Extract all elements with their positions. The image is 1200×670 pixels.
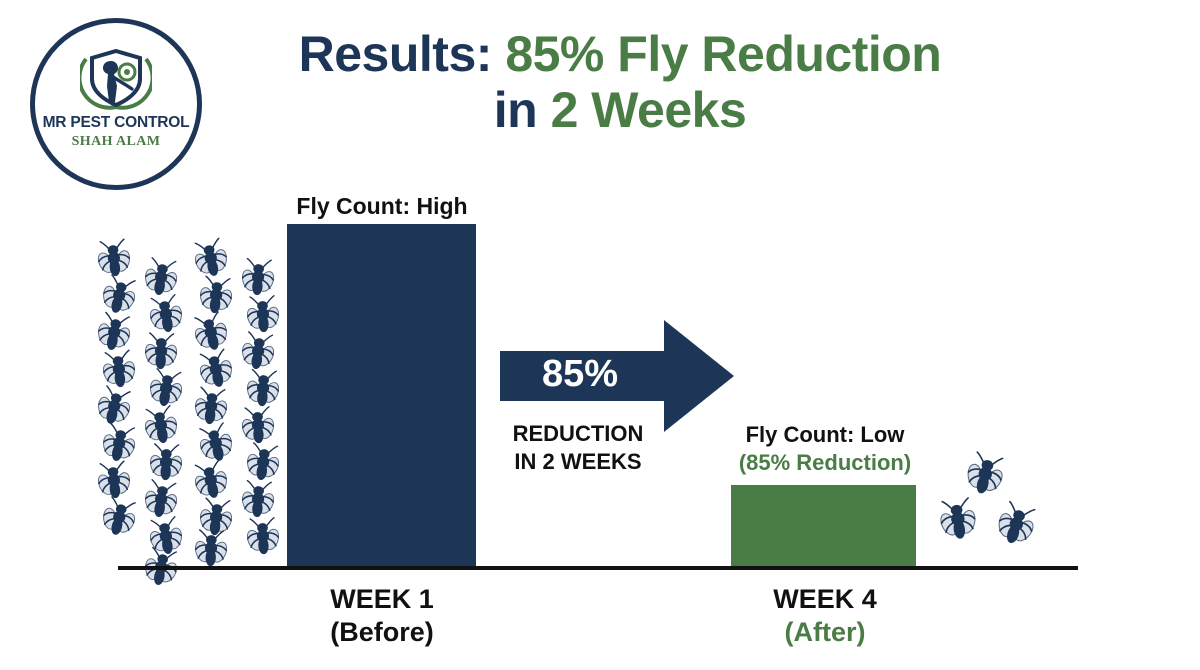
arrow-caption: REDUCTION IN 2 WEEKS (493, 420, 663, 475)
chart-baseline-axis (118, 566, 1078, 570)
arrow-caption-line2: IN 2 WEEKS (493, 448, 663, 476)
bar-label-before: Fly Count: High (262, 193, 502, 220)
infographic-canvas: MR PEST CONTROL SHAH ALAM Results: 85% F… (0, 0, 1200, 670)
bar-label-after: Fly Count: Low (85% Reduction) (705, 421, 945, 476)
fly-icon (935, 497, 981, 543)
arrow-caption-line1: REDUCTION (493, 420, 663, 448)
axis-label-week1-sub: (Before) (262, 616, 502, 649)
axis-label-week4-main: WEEK 4 (705, 583, 945, 616)
arrow-percent-text: 85% (500, 353, 660, 396)
bar-label-after-main: Fly Count: Low (705, 421, 945, 449)
axis-label-week1-main: WEEK 1 (262, 583, 502, 616)
fly-icon (993, 502, 1039, 548)
axis-label-week4-sub: (After) (705, 616, 945, 649)
bar-week4-after (731, 485, 916, 566)
bar-week1-before (287, 224, 476, 566)
axis-label-week4: WEEK 4 (After) (705, 583, 945, 649)
bar-label-after-sub: (85% Reduction) (705, 449, 945, 477)
axis-label-week1: WEEK 1 (Before) (262, 583, 502, 649)
fly-icon (962, 452, 1008, 498)
